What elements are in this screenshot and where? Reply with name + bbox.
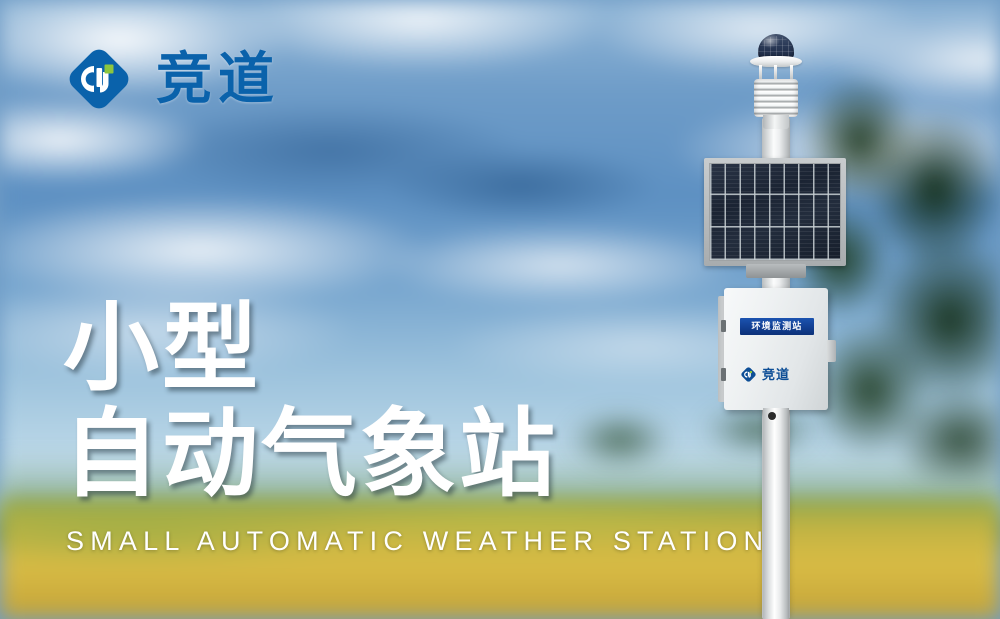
- control-box-logo: 竞道: [740, 364, 816, 384]
- pole-bolt: [768, 412, 776, 420]
- tree-foliage: [800, 60, 1000, 480]
- control-box-banner-text: 环境监测站: [751, 322, 802, 331]
- jingdao-diamond-logo-icon: [740, 366, 757, 383]
- solar-panel-cells: [709, 163, 841, 261]
- control-box-logo-text: 竞道: [762, 368, 790, 381]
- solar-panel-bracket: [746, 264, 806, 278]
- weather-station-banner: 竞道 小型 自动气象站 SMALL AUTOMATIC WEATHER STAT…: [0, 0, 1000, 619]
- control-box-clip: [721, 320, 726, 332]
- solar-panel: [704, 158, 846, 266]
- title-line-1: 小型: [63, 300, 683, 398]
- environmental-monitoring-control-box: 环境监测站 竞道: [724, 288, 828, 410]
- headline-block: 小型 自动气象站 SMALL AUTOMATIC WEATHER STATION: [63, 300, 683, 557]
- ultrasonic-weather-sensor: [742, 34, 810, 126]
- brand-name: 竞道: [156, 51, 280, 107]
- control-box-banner: 环境监测站: [740, 318, 814, 335]
- control-box-clip: [721, 368, 726, 381]
- jingdao-diamond-logo-icon: [64, 44, 134, 114]
- subtitle: SMALL AUTOMATIC WEATHER STATION: [66, 526, 683, 557]
- control-box-mount-lug: [827, 340, 836, 362]
- brand-logo: 竞道: [64, 44, 280, 114]
- mounting-pole-lower: [763, 408, 789, 619]
- radiation-shield-louvers: [754, 79, 798, 117]
- title-line-2: 自动气象站: [63, 406, 683, 504]
- sensor-neck: [763, 115, 789, 129]
